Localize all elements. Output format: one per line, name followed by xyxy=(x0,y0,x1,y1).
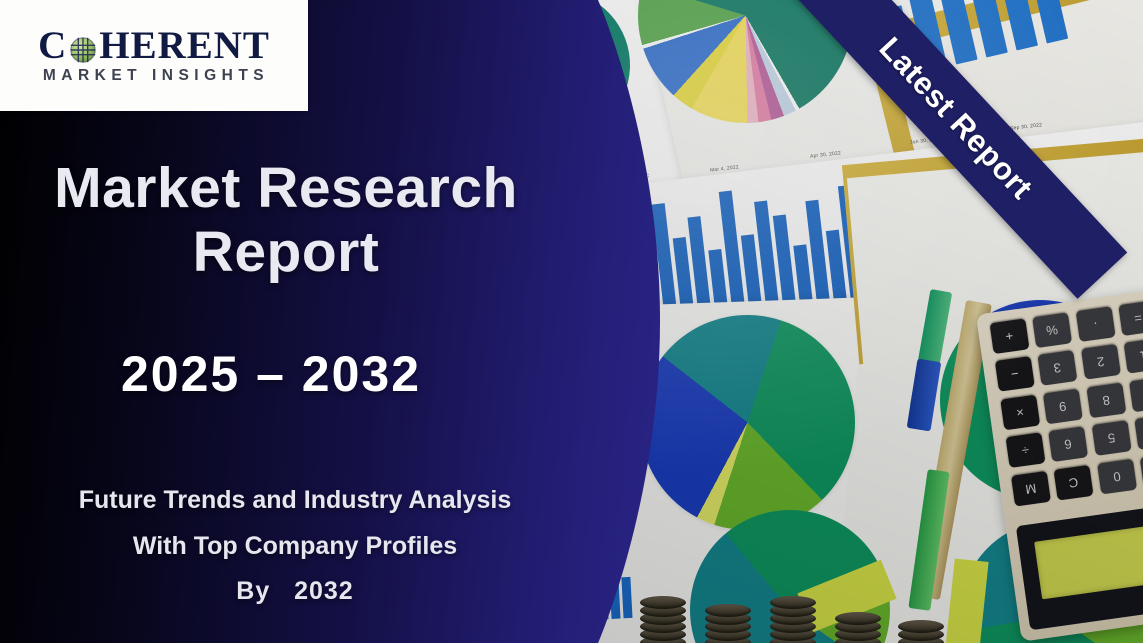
calculator-key: 8 xyxy=(1086,382,1126,418)
subtitle-by-year: 2032 xyxy=(294,577,354,605)
calculator-key: 5 xyxy=(1091,420,1131,456)
calculator-key: % xyxy=(1032,312,1072,348)
globe-icon xyxy=(68,33,98,63)
subtitle-line-2: With Top Company Profiles xyxy=(0,524,590,570)
calculator-display xyxy=(1034,523,1143,600)
calculator-key: × xyxy=(1000,394,1040,430)
coin-stack xyxy=(770,579,816,643)
calculator-key: + xyxy=(989,318,1029,354)
coin-stack xyxy=(835,579,881,643)
calculator-key: ÷ xyxy=(1005,432,1045,468)
coin-stack xyxy=(898,579,944,643)
calculator-key: 9 xyxy=(1043,388,1083,424)
calculator-key: M xyxy=(1011,470,1051,506)
calculator-key: 3 xyxy=(1037,350,1077,386)
coin-stack xyxy=(705,579,751,643)
calculator-key: = xyxy=(1118,300,1143,336)
logo-wordmark-text: HERENT xyxy=(99,26,270,65)
calculator-key: C xyxy=(1053,464,1093,500)
pie-chart-main xyxy=(640,315,855,530)
calculator-key: 7 xyxy=(1128,376,1143,412)
calculator-key: 6 xyxy=(1048,426,1088,462)
calculator-key: 4 xyxy=(1134,414,1143,450)
calculator-key: 0 xyxy=(1096,458,1136,494)
subtitle-line-3: By 2032 xyxy=(0,569,590,615)
calculator-key: · xyxy=(1075,306,1115,342)
calculator-key: 00 xyxy=(1139,452,1143,488)
market-research-report-banner: Locations Detail 23 C Mar 4, 2022 Apr 30… xyxy=(0,0,1143,643)
company-logo[interactable]: C xyxy=(0,0,308,111)
calculator-key: 2 xyxy=(1080,344,1120,380)
coin-stack xyxy=(640,579,686,643)
logo-tagline: MARKET INSIGHTS xyxy=(43,67,269,85)
logo-letter-c: C xyxy=(38,26,67,65)
calculator-key: 1 xyxy=(1123,338,1143,374)
calculator-keypad: + % · = − 3 2 1 × 9 8 7 ÷ 6 5 4 M C 0 00 xyxy=(989,300,1143,506)
subtitle-block: Future Trends and Industry Analysis With… xyxy=(0,478,590,615)
subtitle-line-1: Future Trends and Industry Analysis xyxy=(0,478,590,524)
page-title: Market Research Report xyxy=(0,157,572,285)
year-range: 2025 – 2032 xyxy=(0,345,542,403)
calculator-key: − xyxy=(995,356,1035,392)
subtitle-by-prefix: By xyxy=(236,577,270,605)
logo-wordmark: C xyxy=(38,26,270,65)
